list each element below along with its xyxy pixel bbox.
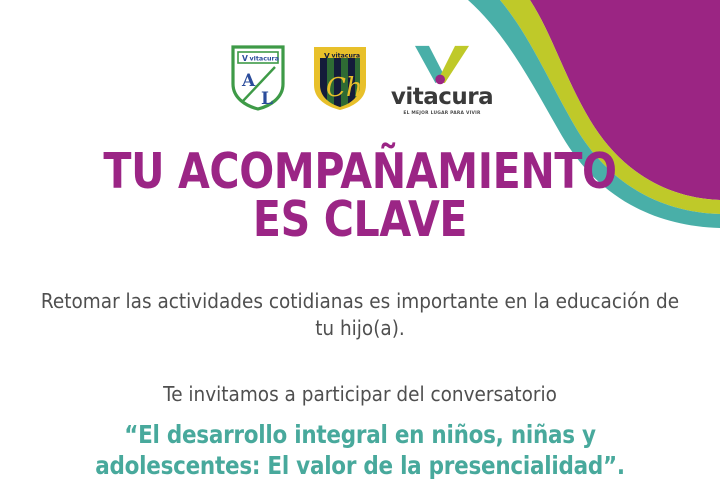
- al-shield-icon: V vitacura A L: [230, 44, 286, 112]
- headline-line-2: ES CLAVE: [58, 196, 663, 244]
- logo-row: V vitacura A L V vitacura: [0, 44, 720, 120]
- vitacura-tagline: EL MEJOR LUGAR PARA VIVIR: [403, 111, 480, 116]
- quote-line-1: “El desarrollo integral en niños, niñas …: [50, 420, 669, 451]
- shield-letter-a: A: [241, 71, 256, 91]
- quote-line-2: adolescentes: El valor de la presenciali…: [50, 451, 669, 482]
- invitation-line: Te invitamos a participar del conversato…: [36, 381, 684, 408]
- ach-shield-icon: V vitacura Ch: [312, 44, 368, 112]
- logo-academia-shield: V vitacura Ch: [312, 44, 368, 117]
- shield-letter-l: L: [261, 89, 273, 109]
- poster-canvas: V vitacura A L V vitacura: [0, 0, 720, 495]
- event-title-quote: “El desarrollo integral en niños, niñas …: [50, 420, 669, 481]
- shield-monogram: Ch: [326, 73, 363, 103]
- vitacura-v-icon: [411, 44, 473, 85]
- headline-line-1: TU ACOMPAÑAMIENTO: [58, 148, 663, 196]
- logo-vitacura-municipal: vitacura EL MEJOR LUGAR PARA VIVIR: [394, 44, 490, 116]
- vitacura-wordmark: vitacura: [391, 86, 493, 109]
- shield-banner-text: vitacura: [250, 55, 280, 63]
- body-paragraph: Retomar las actividades cotidianas es im…: [36, 288, 684, 342]
- logo-alianza-shield: V vitacura A L: [230, 44, 286, 117]
- page-title: TU ACOMPAÑAMIENTO ES CLAVE: [58, 148, 663, 244]
- v-dot: [435, 75, 445, 85]
- shield-banner-mark: V: [242, 54, 248, 63]
